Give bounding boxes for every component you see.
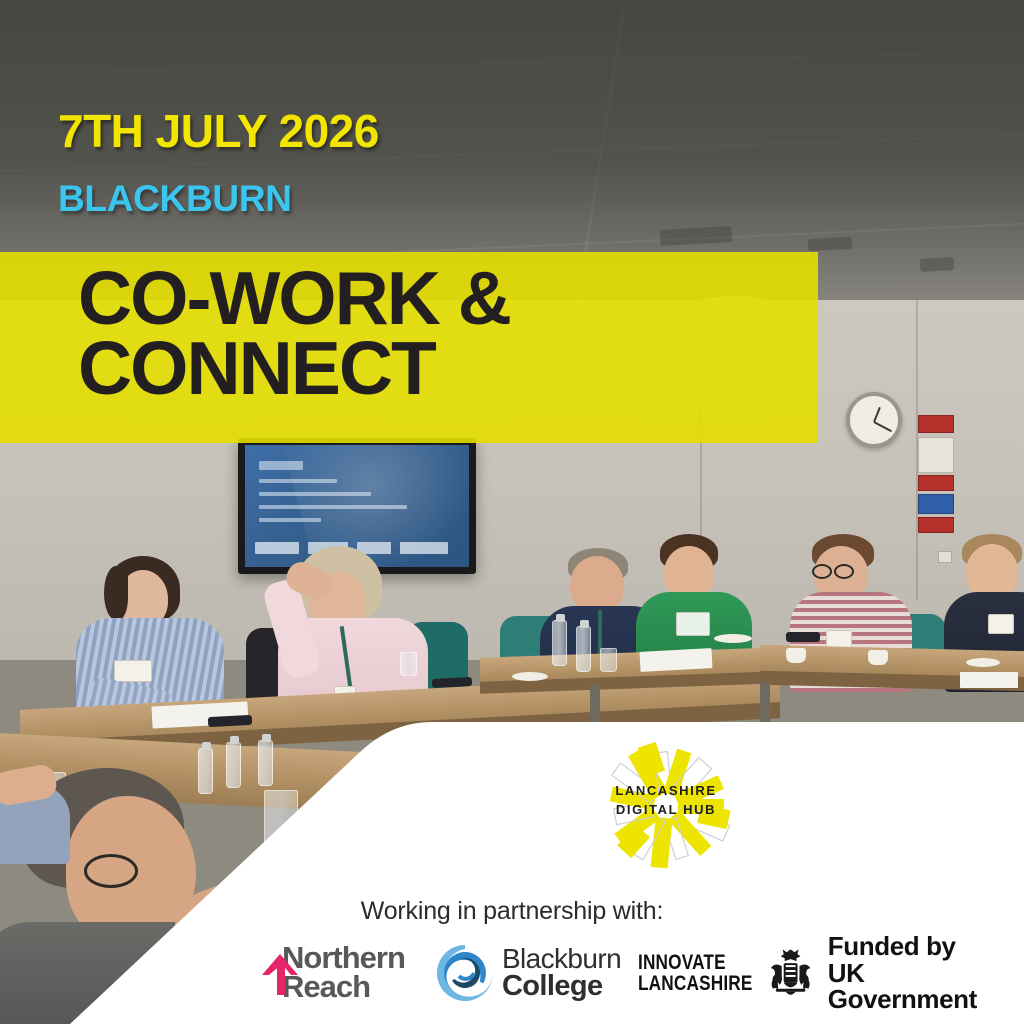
coffee-cup	[786, 648, 806, 663]
water-glass	[600, 648, 617, 672]
partner-logos-row: Northern Reach Blackburn College INNOVAT…	[258, 934, 1018, 1012]
saucer	[512, 672, 548, 681]
logo-line2: DIGITAL HUB	[566, 801, 766, 820]
glasses	[812, 564, 832, 579]
northern-reach-arrow-icon	[258, 949, 306, 997]
il-line2: LANCASHIRE	[638, 973, 727, 994]
partner-logo-blackburn-college: Blackburn College	[434, 937, 622, 1009]
notice	[918, 517, 954, 533]
logo-wordmark: LANCASHIRE DIGITAL HUB	[566, 782, 766, 820]
lancashire-digital-hub-logo: LANCASHIRE DIGITAL HUB	[566, 736, 766, 876]
glasses	[834, 564, 854, 579]
wall-notices	[918, 415, 954, 535]
water-bottle	[552, 620, 567, 666]
uk-government-wordmark: Funded by UK Government	[828, 933, 1018, 1013]
water-bottle	[576, 626, 591, 672]
royal-coat-of-arms-icon	[762, 944, 819, 1002]
shirt-print	[676, 612, 710, 636]
partner-logo-northern-reach: Northern Reach	[258, 937, 418, 1009]
blackburn-college-swirl-icon	[434, 942, 496, 1004]
ukg-line1: Funded by	[828, 931, 956, 961]
notice	[918, 437, 954, 473]
paper	[960, 672, 1018, 688]
notice	[918, 494, 954, 514]
phone	[786, 632, 820, 642]
event-title: CO-WORK & CONNECT	[78, 264, 818, 404]
partnership-label: Working in partnership with:	[0, 897, 1024, 926]
partner-logo-uk-government: Funded by UK Government	[762, 933, 1018, 1013]
water-glass	[400, 652, 417, 676]
event-title-line2: CONNECT	[78, 334, 818, 404]
ukg-line2: UK Government	[828, 960, 1018, 1013]
screen-heading	[259, 461, 303, 470]
coffee-cup	[868, 650, 888, 665]
screen-text-line	[259, 505, 407, 509]
logo-line1: LANCASHIRE	[615, 783, 716, 798]
event-poster: 7TH JULY 2026 BLACKBURN CO-WORK & CONNEC…	[0, 0, 1024, 1024]
screen-text-line	[259, 492, 371, 496]
notice	[918, 475, 954, 491]
event-date: 7TH JULY 2026	[58, 104, 379, 158]
screen-text-line	[259, 518, 321, 522]
name-badge	[988, 614, 1014, 634]
partner-logo-innovate-lancashire: INNOVATE LANCASHIRE	[638, 952, 727, 995]
il-line1: INNOVATE	[638, 951, 726, 974]
blackburn-college-wordmark: Blackburn College	[502, 946, 621, 1000]
bc-line2: College	[502, 973, 621, 1001]
saucer	[714, 634, 752, 643]
paper	[640, 648, 713, 672]
screen-text-line	[259, 479, 337, 483]
name-badge	[114, 660, 152, 682]
hair-side	[104, 566, 128, 620]
notice	[918, 415, 954, 433]
saucer	[966, 658, 1000, 667]
wall-clock	[846, 392, 902, 448]
event-city: BLACKBURN	[58, 178, 292, 220]
